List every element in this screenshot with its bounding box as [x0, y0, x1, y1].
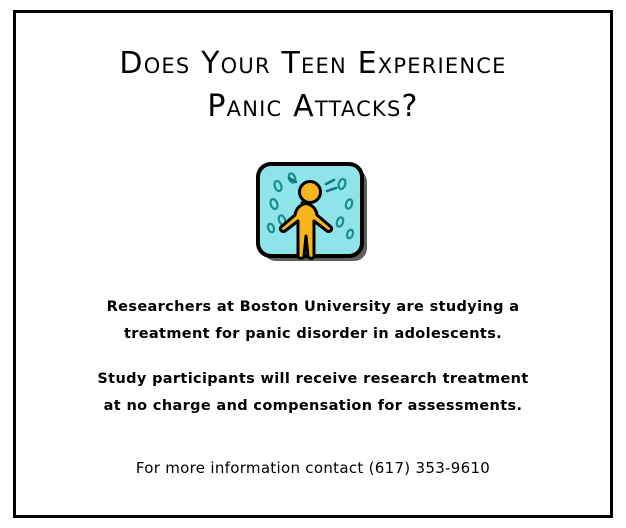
headline-line-1: Does Your Teen Experience — [119, 43, 506, 86]
paragraph-1-line-2: treatment for panic disorder in adolesce… — [97, 321, 528, 348]
paragraph-2: Study participants will receive research… — [97, 366, 528, 420]
contact-line: For more information contact (617) 353-9… — [136, 459, 490, 477]
flyer-border-frame: Does Your Teen Experience Panic Attacks? — [13, 10, 613, 518]
page-title: Does Your Teen Experience Panic Attacks? — [119, 43, 506, 128]
flyer-content: Does Your Teen Experience Panic Attacks? — [16, 13, 610, 515]
paragraph-2-line-2: at no charge and compensation for assess… — [97, 393, 528, 420]
body-text: Researchers at Boston University are stu… — [97, 294, 528, 419]
flyer-page: Does Your Teen Experience Panic Attacks? — [0, 0, 626, 528]
paragraph-2-line-1: Study participants will receive research… — [97, 366, 528, 393]
anxious-person-sweating-icon — [254, 160, 372, 264]
paragraph-1: Researchers at Boston University are stu… — [97, 294, 528, 348]
paragraph-1-line-1: Researchers at Boston University are stu… — [97, 294, 528, 321]
headline-line-2: Panic Attacks? — [119, 86, 506, 129]
